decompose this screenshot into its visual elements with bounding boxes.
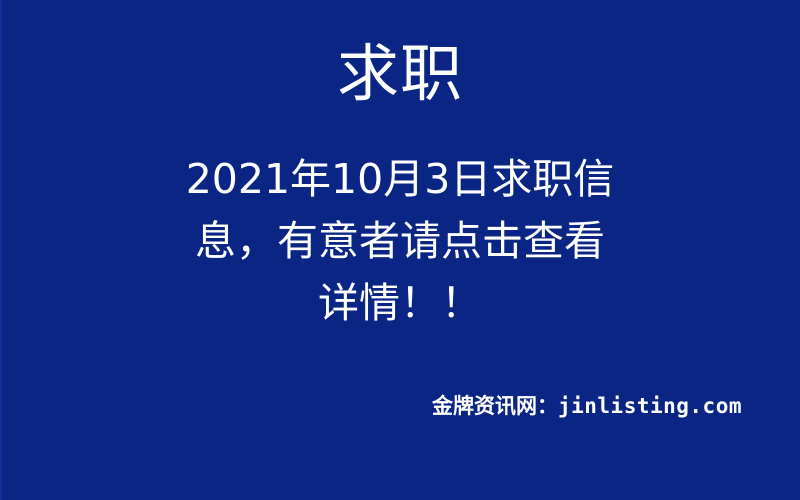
announcement-line-1: 2021年10月3日求职信 <box>150 148 650 210</box>
announcement-line-3: 详情！！ <box>150 272 650 334</box>
announcement-line-2: 息，有意者请点击查看 <box>150 210 650 272</box>
footer-site-url: jinlisting.com <box>558 394 742 418</box>
announcement-text-block: 2021年10月3日求职信 息，有意者请点击查看 详情！！ <box>150 148 650 334</box>
poster-canvas: 求职 2021年10月3日求职信 息，有意者请点击查看 详情！！ 金牌资讯网：j… <box>0 0 800 500</box>
footer-attribution: 金牌资讯网：jinlisting.com <box>0 392 800 420</box>
page-title: 求职 <box>0 38 800 110</box>
footer-site-name: 金牌资讯网： <box>432 394 558 418</box>
